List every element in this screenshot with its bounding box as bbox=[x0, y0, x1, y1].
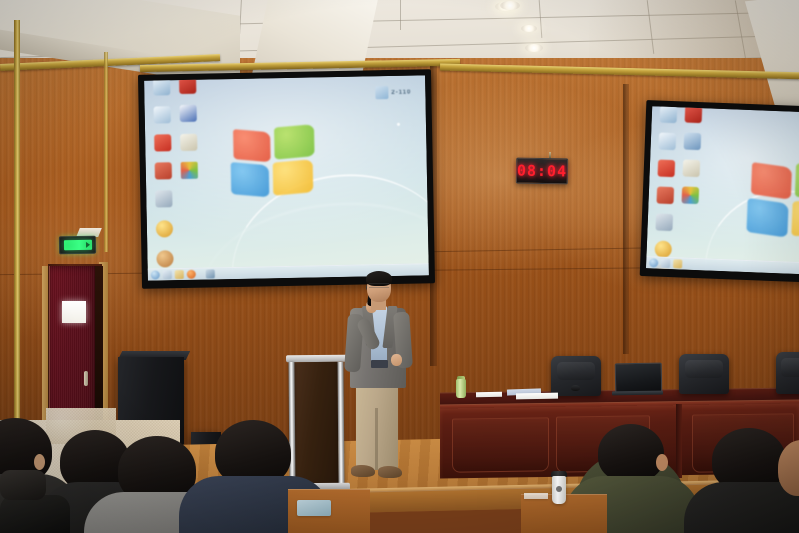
desktop-icon[interactable] bbox=[652, 213, 675, 236]
wall-gold-pilaster bbox=[14, 20, 20, 450]
wall-reveal bbox=[623, 84, 629, 354]
taskbar-icon[interactable] bbox=[661, 259, 670, 268]
desktop-icon[interactable] bbox=[178, 162, 200, 184]
taskbar-icon[interactable] bbox=[673, 259, 682, 268]
desktop-icon[interactable] bbox=[678, 186, 701, 209]
desktop-icon[interactable] bbox=[177, 134, 199, 156]
projection-screen-left[interactable]: 2-110 bbox=[138, 69, 435, 289]
trouser-crease bbox=[375, 408, 378, 470]
clock-time: 08:04 bbox=[517, 162, 567, 181]
screen-surface-right bbox=[646, 106, 799, 275]
computer-mouse[interactable] bbox=[571, 385, 580, 391]
desktop-corner-widget[interactable]: 2-110 bbox=[375, 86, 411, 100]
taskbar-icon[interactable] bbox=[206, 269, 215, 278]
water-bottle[interactable] bbox=[456, 379, 466, 398]
desktop-icon[interactable] bbox=[151, 134, 173, 156]
desktop-icon[interactable] bbox=[152, 162, 174, 184]
desktop-icon[interactable] bbox=[681, 106, 704, 128]
desktop-icon[interactable] bbox=[150, 78, 172, 100]
presenter bbox=[340, 276, 420, 491]
desktop-icon[interactable] bbox=[655, 132, 678, 155]
audience-ear bbox=[34, 454, 45, 470]
seat-back bbox=[0, 495, 70, 533]
presenter-shoe bbox=[378, 466, 402, 478]
audience-torso bbox=[684, 482, 799, 533]
taskbar-icon[interactable] bbox=[163, 270, 172, 279]
panel-chair[interactable] bbox=[679, 354, 729, 394]
emergency-exit-sign bbox=[59, 236, 96, 255]
mouse-cursor-icon bbox=[397, 123, 400, 126]
screen-surface-left: 2-110 bbox=[144, 75, 429, 280]
presenter-shoe bbox=[351, 465, 375, 477]
downlight-icon bbox=[525, 44, 543, 52]
lecture-hall-photo: 2-110 bbox=[0, 0, 799, 533]
document-papers[interactable] bbox=[516, 393, 558, 400]
door-vision-panel bbox=[62, 301, 86, 323]
desktop-icon[interactable] bbox=[153, 220, 175, 242]
windows-logo-icon bbox=[229, 127, 316, 199]
taskbar-icon[interactable] bbox=[187, 270, 196, 279]
wall-clock: 08:04 bbox=[516, 158, 568, 185]
table-divider bbox=[676, 404, 682, 478]
panel-chair[interactable] bbox=[776, 352, 799, 394]
projection-screen-right[interactable] bbox=[640, 100, 799, 284]
lectern-panel bbox=[293, 362, 338, 484]
desktop-icon[interactable] bbox=[656, 106, 679, 128]
desktop-icon[interactable] bbox=[151, 106, 173, 128]
door-handle[interactable] bbox=[84, 371, 88, 386]
windows-logo-icon bbox=[745, 162, 799, 241]
exit-running-man-icon bbox=[63, 240, 91, 250]
audience-head bbox=[598, 424, 664, 482]
document-papers[interactable] bbox=[476, 392, 502, 397]
laptop-lid[interactable] bbox=[615, 363, 663, 395]
audience-ear bbox=[656, 454, 668, 471]
desk-papers[interactable] bbox=[524, 493, 548, 499]
presenter-belt bbox=[371, 360, 388, 368]
desktop-icon[interactable] bbox=[152, 190, 174, 212]
desktop-icon[interactable] bbox=[680, 132, 703, 155]
widget-icon bbox=[375, 86, 388, 99]
table-panel-inset bbox=[452, 417, 549, 472]
taskbar-icon[interactable] bbox=[175, 270, 184, 279]
tablet-device[interactable] bbox=[297, 500, 331, 516]
desktop-icon[interactable] bbox=[654, 159, 677, 182]
eyeglasses-icon bbox=[369, 283, 389, 288]
downlight-icon bbox=[521, 25, 537, 32]
desktop-icon[interactable] bbox=[176, 77, 198, 99]
travel-mug-logo-icon bbox=[556, 486, 562, 492]
desktop-icon[interactable] bbox=[653, 186, 676, 209]
taskbar-icon[interactable] bbox=[151, 270, 160, 279]
desktop-icon[interactable] bbox=[177, 105, 199, 127]
bag bbox=[0, 470, 46, 500]
taskbar-icon[interactable] bbox=[649, 258, 658, 267]
lectern-rail bbox=[288, 362, 295, 486]
widget-label: 2-110 bbox=[391, 89, 411, 95]
wall-gold-pilaster bbox=[104, 52, 108, 252]
downlight-icon bbox=[500, 1, 520, 10]
presenter-hand bbox=[391, 354, 402, 366]
desktop-icon[interactable] bbox=[679, 159, 702, 182]
